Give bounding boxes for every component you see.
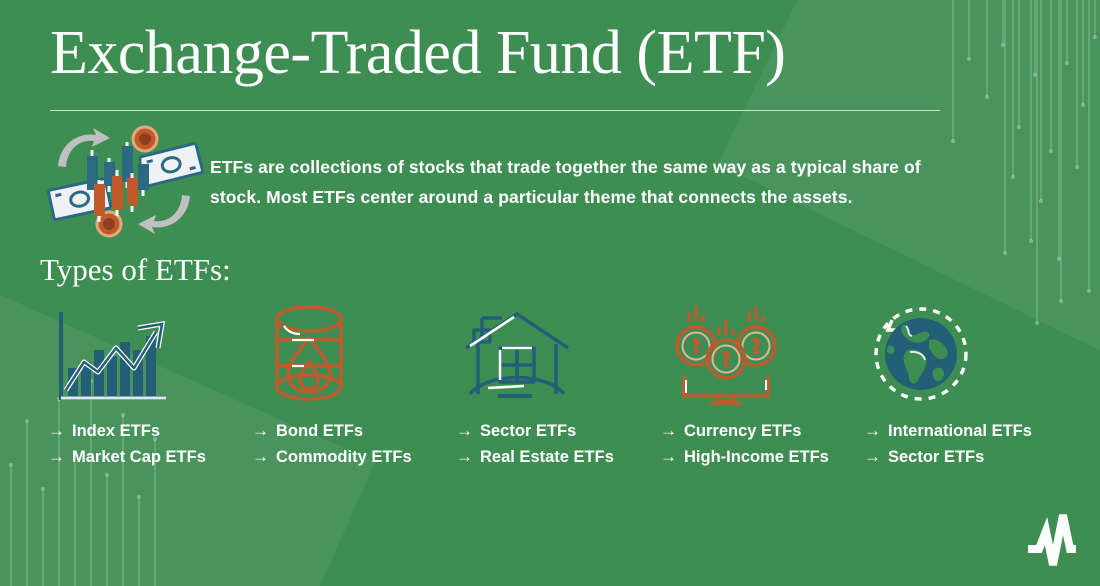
rain-line — [1076, 0, 1078, 166]
types-columns: → Index ETFs → Market Cap ETFs — [44, 298, 1064, 470]
rain-line — [74, 454, 76, 586]
list-item-label: Bond ETFs — [276, 418, 363, 444]
rain-line — [1094, 0, 1096, 36]
candlestick-chart-money-icon — [44, 118, 204, 249]
type-list: → International ETFs → Sector ETFs — [860, 418, 1064, 470]
dollar-coins-monitor-icon — [656, 298, 860, 406]
list-item-label: International ETFs — [888, 418, 1032, 444]
arrow-right-icon: → — [864, 444, 881, 470]
intro-paragraph: ETFs are collections of stocks that trad… — [210, 152, 950, 212]
type-column-international: → International ETFs → Sector ETFs — [860, 298, 1064, 470]
arrow-right-icon: → — [48, 444, 65, 470]
types-heading: Types of ETFs: — [40, 252, 231, 288]
rain-line — [1012, 0, 1014, 176]
list-item-label: Index ETFs — [72, 418, 160, 444]
list-item: → High-Income ETFs — [660, 444, 860, 470]
list-item-label: Commodity ETFs — [276, 444, 412, 470]
arrow-right-icon: → — [456, 444, 473, 470]
oil-barrel-flame-icon — [248, 298, 452, 406]
rain-line — [1058, 0, 1060, 258]
rain-line — [1002, 0, 1004, 44]
bar-chart-growth-arrow-icon — [44, 298, 248, 406]
rain-line — [1004, 0, 1006, 252]
rain-line — [1018, 0, 1020, 126]
arrow-right-icon: → — [660, 444, 677, 470]
type-list: → Currency ETFs → High-Income ETFs — [656, 418, 860, 470]
page-title: Exchange-Traded Fund (ETF) — [50, 22, 785, 84]
house-icon — [452, 298, 656, 406]
list-item: → Real Estate ETFs — [456, 444, 656, 470]
rain-line — [1082, 0, 1084, 104]
list-item-label: High-Income ETFs — [684, 444, 829, 470]
rain-line — [986, 0, 988, 96]
type-list: → Bond ETFs → Commodity ETFs — [248, 418, 452, 470]
rain-line — [138, 498, 140, 586]
list-item: → Index ETFs — [48, 418, 248, 444]
arrow-right-icon: → — [252, 444, 269, 470]
list-item-label: Market Cap ETFs — [72, 444, 206, 470]
rain-line — [10, 466, 12, 586]
type-column-sector: → Sector ETFs → Real Estate ETFs — [452, 298, 656, 470]
rain-line — [1030, 0, 1032, 240]
type-list: → Sector ETFs → Real Estate ETFs — [452, 418, 656, 470]
list-item: → Commodity ETFs — [252, 444, 452, 470]
list-item-label: Sector ETFs — [480, 418, 576, 444]
arrow-right-icon: → — [456, 418, 473, 444]
rain-line — [1060, 0, 1062, 300]
rain-line — [968, 0, 970, 58]
type-list: → Index ETFs → Market Cap ETFs — [44, 418, 248, 470]
arrow-right-icon: → — [660, 418, 677, 444]
rain-line — [42, 490, 44, 586]
title-divider — [50, 110, 940, 111]
rain-line — [1040, 0, 1042, 200]
list-item-label: Real Estate ETFs — [480, 444, 614, 470]
etf-infographic: Exchange-Traded Fund (ETF) — [0, 0, 1100, 586]
list-item: → Sector ETFs — [456, 418, 656, 444]
rain-line — [1066, 0, 1068, 62]
list-item: → Market Cap ETFs — [48, 444, 248, 470]
rain-line — [26, 422, 28, 586]
rain-line — [1088, 0, 1090, 290]
arrow-right-icon: → — [48, 418, 65, 444]
marketbeat-m-pulse-logo — [1026, 511, 1078, 572]
type-column-currency: → Currency ETFs → High-Income ETFs — [656, 298, 860, 470]
list-item-label: Currency ETFs — [684, 418, 801, 444]
type-column-index: → Index ETFs → Market Cap ETFs — [44, 298, 248, 470]
list-item-label: Sector ETFs — [888, 444, 984, 470]
list-item: → Sector ETFs — [864, 444, 1064, 470]
list-item: → Bond ETFs — [252, 418, 452, 444]
list-item: → Currency ETFs — [660, 418, 860, 444]
arrow-right-icon: → — [252, 418, 269, 444]
rain-line — [952, 0, 954, 140]
rain-line — [1034, 0, 1036, 74]
rain-line — [106, 476, 108, 586]
type-column-bond: → Bond ETFs → Commodity ETFs — [248, 298, 452, 470]
list-item: → International ETFs — [864, 418, 1064, 444]
rain-line — [1050, 0, 1052, 150]
rain-line — [1036, 0, 1038, 322]
globe-orbit-icon — [860, 298, 1064, 406]
background-decoration — [0, 0, 1100, 586]
arrow-right-icon: → — [864, 418, 881, 444]
